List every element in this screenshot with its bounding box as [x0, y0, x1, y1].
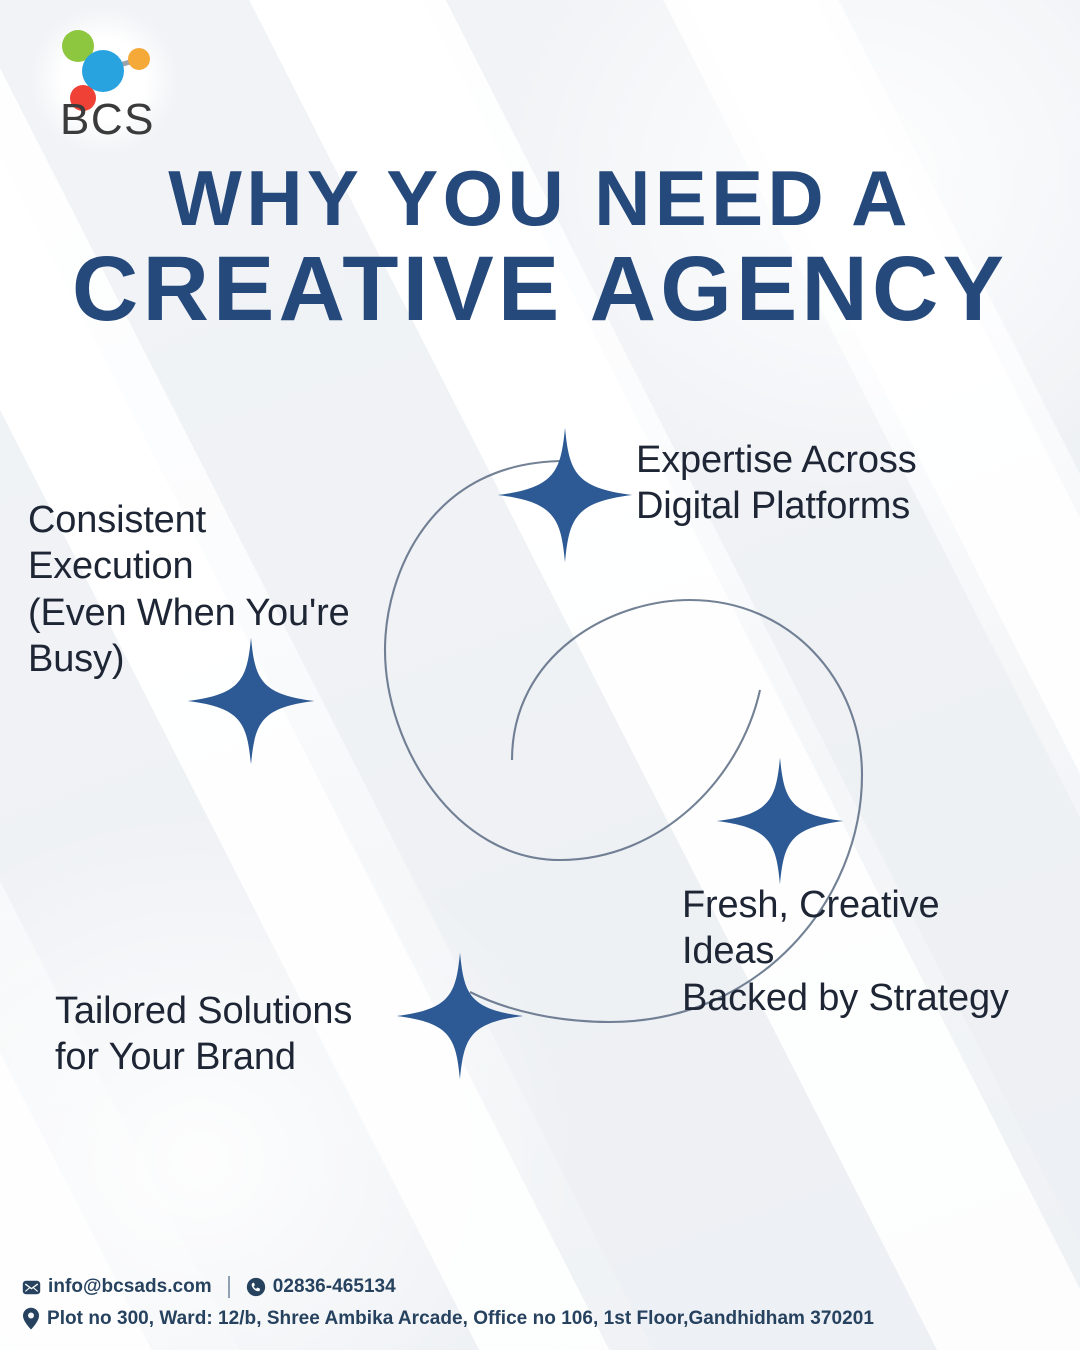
footer-email-text: info@bcsads.com — [48, 1276, 212, 1298]
footer-address: Plot no 300, Ward: 12/b, Shree Ambika Ar… — [22, 1307, 874, 1330]
title-line-1: WHY YOU NEED A — [0, 160, 1080, 236]
envelope-icon — [22, 1278, 41, 1297]
footer-phone-text: 02836-465134 — [273, 1276, 396, 1298]
logo-wordmark: BCS — [60, 95, 155, 142]
footer-divider — [228, 1276, 230, 1298]
feature-consistent-execution: Consistent Execution (Even When You're B… — [28, 497, 350, 682]
footer-phone[interactable]: 02836-465134 — [246, 1276, 396, 1298]
footer-address-text: Plot no 300, Ward: 12/b, Shree Ambika Ar… — [47, 1308, 874, 1330]
bcs-molecule-logo: BCS — [42, 18, 166, 142]
logo-molecule-icon: BCS — [42, 18, 166, 142]
four-point-star-icon — [394, 950, 526, 1082]
four-point-star-icon — [495, 425, 635, 565]
footer-row-contact: info@bcsads.com 02836-465134 — [22, 1276, 874, 1298]
phone-icon — [246, 1277, 266, 1297]
map-pin-icon — [22, 1307, 40, 1330]
feature-fresh-creative-ideas: Fresh, Creative Ideas Backed by Strategy — [682, 882, 1009, 1021]
poster-title: WHY YOU NEED A CREATIVE AGENCY — [0, 160, 1080, 335]
four-point-star-icon — [714, 755, 846, 887]
footer-row-address: Plot no 300, Ward: 12/b, Shree Ambika Ar… — [22, 1307, 874, 1330]
feature-tailored-solutions: Tailored Solutions for Your Brand — [55, 988, 352, 1081]
footer-email[interactable]: info@bcsads.com — [22, 1276, 212, 1298]
footer-contact-bar: info@bcsads.com 02836-465134 Plot no 300… — [22, 1276, 874, 1330]
poster-canvas: BCS WHY YOU NEED A CREATIVE AGENCY Exper… — [0, 0, 1080, 1350]
feature-expertise: Expertise Across Digital Platforms — [636, 437, 917, 530]
title-line-2: CREATIVE AGENCY — [0, 244, 1080, 334]
